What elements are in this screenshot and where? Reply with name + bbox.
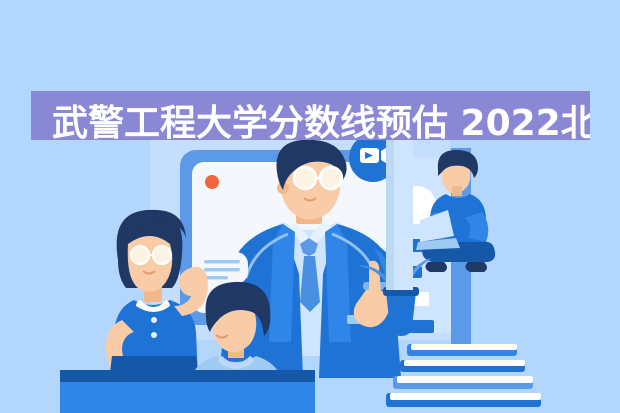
laptop-student-foot-right xyxy=(465,262,487,272)
online-education-illustration xyxy=(0,140,620,413)
wall-strip xyxy=(393,140,413,290)
wall-strip-shadow xyxy=(386,140,394,290)
book-1-pages xyxy=(411,344,517,350)
illustration xyxy=(0,140,620,413)
monitor-record-dot xyxy=(205,175,219,189)
plant-pot xyxy=(386,292,416,336)
book-4-pages xyxy=(390,393,541,400)
laptop-student-neck xyxy=(452,186,462,196)
page-root: 武警工程大学分数线预估 2022北 xyxy=(0,0,620,413)
speech-bubble-line-2 xyxy=(204,268,240,272)
laptop-student-foot-left xyxy=(425,262,447,272)
book-2-pages xyxy=(404,360,525,366)
desk xyxy=(60,370,315,413)
book-3-pages xyxy=(397,376,533,383)
desk-top xyxy=(60,370,315,382)
speech-bubble-line-1 xyxy=(204,260,240,264)
woman-button-2 xyxy=(151,332,157,338)
page-title: 武警工程大学分数线预估 2022北 xyxy=(31,106,590,142)
video-camera-icon xyxy=(360,146,389,165)
desk-front xyxy=(60,382,315,413)
woman-button-1 xyxy=(151,317,157,323)
